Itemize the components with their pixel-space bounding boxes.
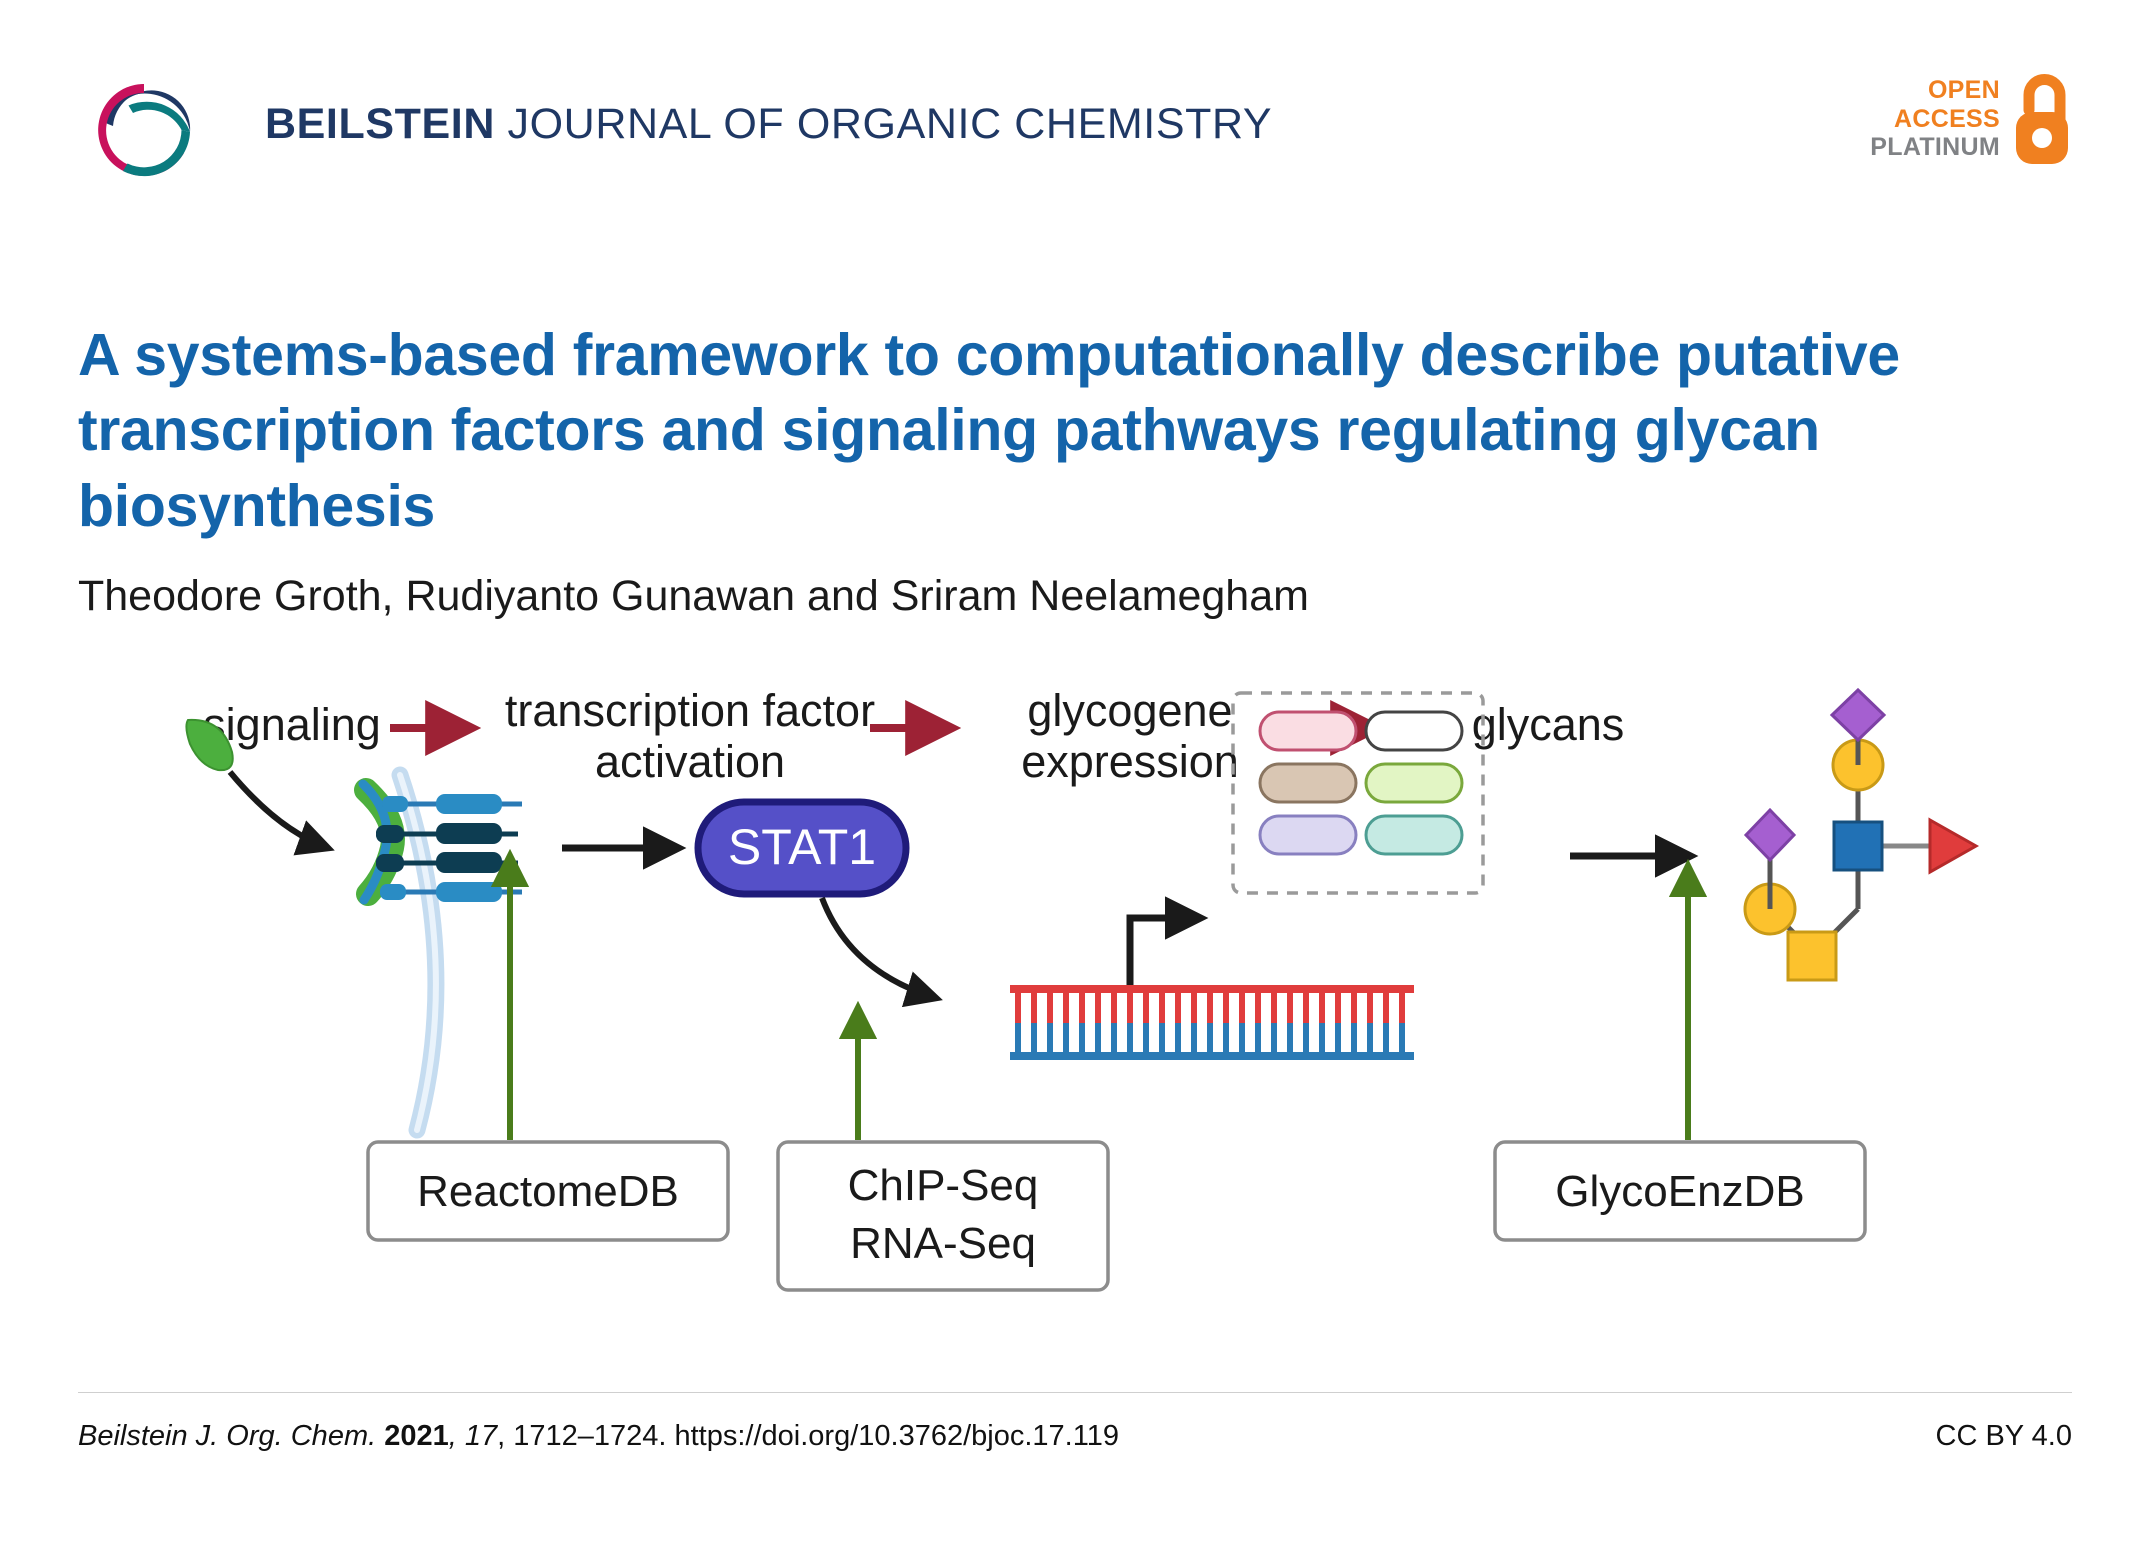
stat1-to-dna-arrow (822, 898, 936, 998)
padlock-keyhole (2032, 128, 2052, 148)
citation-pages-doi: , 1712–1724. https://doi.org/10.3762/bjo… (497, 1420, 1119, 1452)
flow-label-signaling: signaling (203, 699, 381, 750)
author-list: Theodore Groth, Rudiyanto Gunawan and Sr… (78, 572, 1309, 621)
beilstein-logo (78, 64, 210, 186)
glycoenzdb-label: GlycoEnzDB (1555, 1167, 1804, 1216)
chipseq-label: ChIP-Seq (848, 1161, 1039, 1210)
dna-top-strand (1010, 985, 1414, 993)
journal-title: BEILSTEIN JOURNAL OF ORGANIC CHEMISTRY (265, 100, 1272, 149)
glycan-structure-icon (1745, 690, 1976, 980)
glycogene-pill-5[interactable] (1260, 816, 1356, 854)
flow-label-tf-line1: transcription factor (505, 685, 875, 736)
dna-bottom-strand (1010, 1052, 1414, 1060)
glycan-sialic-diamond-1 (1832, 690, 1884, 740)
chain-seg-1b (436, 794, 502, 814)
stat1-label: STAT1 (728, 819, 876, 875)
graphical-abstract-figure: signaling transcription factor activatio… (170, 660, 2030, 1350)
logo-arc-teal (123, 130, 190, 176)
beilstein-logo-svg (78, 64, 210, 186)
figure-svg: signaling transcription factor activatio… (170, 660, 2030, 1350)
db-box-glycoenzdb[interactable]: GlycoEnzDB (1495, 1142, 1865, 1240)
citation-year: 2021 (376, 1420, 449, 1452)
rnaseq-label: RNA-Seq (850, 1219, 1036, 1268)
reactomedb-label: ReactomeDB (417, 1167, 679, 1216)
journal-title-bold: BEILSTEIN (265, 100, 495, 148)
open-access-badge: OPEN ACCESS PLATINUM (1870, 70, 2072, 168)
flow-label-glycogene-line1: glycogene (1027, 685, 1232, 736)
open-access-text: OPEN ACCESS PLATINUM (1870, 76, 2000, 162)
glycan-sialic-diamond-2 (1746, 810, 1794, 860)
chain-seg-1a (382, 796, 408, 812)
glycan-galnac-square (1788, 932, 1836, 980)
page-title: A systems-based framework to computation… (78, 318, 1948, 545)
open-access-line-access: ACCESS (1870, 105, 2000, 134)
masthead: BEILSTEIN JOURNAL OF ORGANIC CHEMISTRY O… (78, 62, 2072, 187)
stat1-node[interactable]: STAT1 (698, 802, 906, 894)
journal-title-rest: JOURNAL OF ORGANIC CHEMISTRY (495, 100, 1272, 148)
footer-divider (78, 1392, 2072, 1393)
chain-seg-2b (436, 823, 502, 844)
citation: Beilstein J. Org. Chem. 2021, 17, 1712–1… (78, 1420, 1119, 1453)
glycogene-pill-6[interactable] (1366, 816, 1462, 854)
glycogene-pill-3[interactable] (1260, 764, 1356, 802)
open-access-line-open: OPEN (1870, 76, 2000, 105)
flow-label-glycans: glycans (1472, 699, 1625, 750)
db-box-reactomedb[interactable]: ReactomeDB (368, 1142, 728, 1240)
glycan-glcnac-square (1834, 822, 1882, 870)
chain-seg-4a (380, 884, 406, 900)
chain-seg-3b (436, 852, 502, 873)
glycogene-pill-4[interactable] (1366, 764, 1462, 802)
open-padlock-icon (2010, 70, 2072, 168)
glycan-fucose-triangle (1930, 820, 1976, 872)
chain-seg-3a (376, 854, 404, 872)
glycogene-pill-2[interactable] (1366, 712, 1462, 750)
chain-seg-4b (436, 882, 502, 902)
glycogene-grid (1233, 693, 1483, 893)
footer: Beilstein J. Org. Chem. 2021, 17, 1712–1… (78, 1420, 2072, 1453)
glycogene-pill-1[interactable] (1260, 712, 1356, 750)
ligand-binding-arrow (230, 772, 328, 848)
flow-label-tf-line2: activation (595, 736, 785, 787)
open-access-line-platinum: PLATINUM (1870, 133, 2000, 162)
citation-volume: , 17 (449, 1420, 497, 1452)
license-label: CC BY 4.0 (1936, 1420, 2072, 1453)
chain-seg-2a (376, 825, 404, 843)
promoter-arrow (1130, 918, 1200, 985)
dna-rungs (1015, 993, 1405, 1052)
dna-icon (1010, 985, 1414, 1060)
db-box-chipseq-rnaseq[interactable]: ChIP-Seq RNA-Seq (778, 1142, 1108, 1290)
citation-journal: Beilstein J. Org. Chem. (78, 1420, 376, 1452)
flow-label-glycogene-line2: expression (1021, 736, 1239, 787)
receptor-complex-icon (363, 784, 522, 902)
